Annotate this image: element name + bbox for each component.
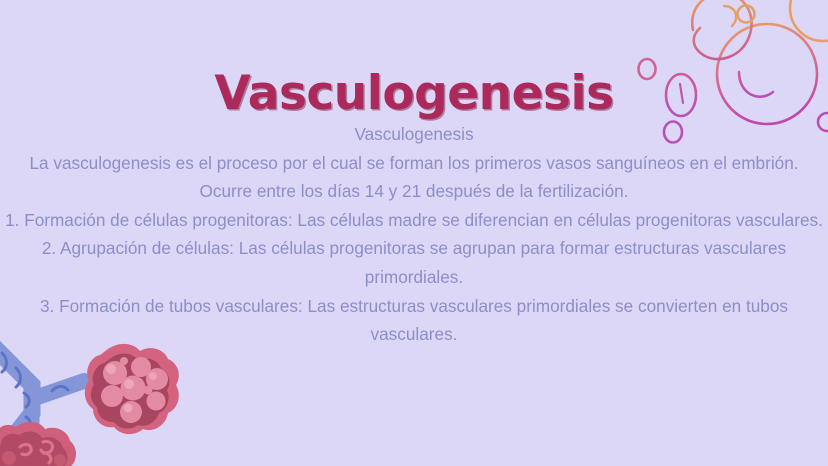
- page-title: Vasculogenesis: [0, 69, 828, 118]
- body-line-heading: Vasculogenesis: [4, 120, 824, 149]
- body-line-step-3: 3. Formación de tubos vasculares: Las es…: [4, 292, 824, 349]
- body-text-block: Vasculogenesis La vasculogenesis es el p…: [4, 120, 824, 349]
- body-line-step-1: 1. Formación de células progenitoras: La…: [4, 206, 824, 235]
- body-line-definition: La vasculogenesis es el proceso por el c…: [4, 149, 824, 206]
- slide-content: Vasculogenesis Vasculogenesis La vasculo…: [0, 0, 828, 466]
- slide-canvas: Vasculogenesis Vasculogenesis La vasculo…: [0, 0, 828, 466]
- body-line-step-2: 2. Agrupación de células: Las células pr…: [4, 234, 824, 291]
